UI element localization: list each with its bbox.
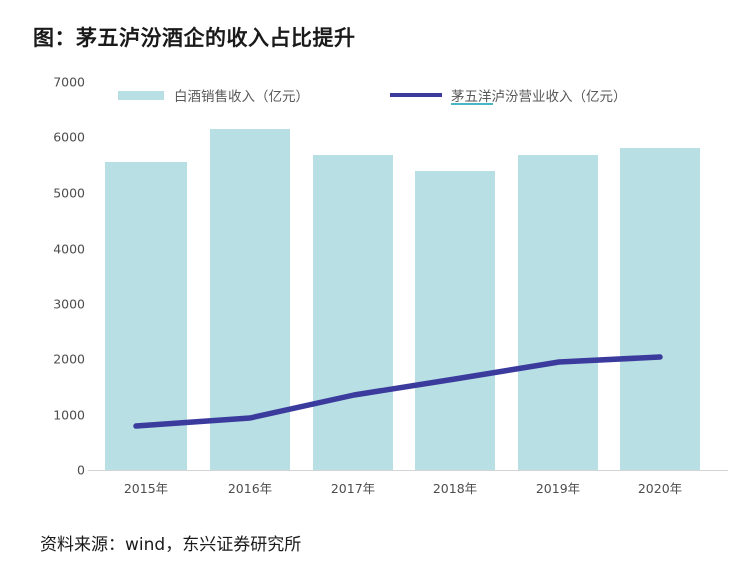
x-axis: 2015年 2016年 2017年 2018年 2019年 2020年 bbox=[0, 478, 746, 502]
x-tick-2020: 2020年 bbox=[638, 478, 682, 497]
x-tick-2018: 2018年 bbox=[433, 478, 477, 497]
x-tick-2019: 2019年 bbox=[536, 478, 580, 497]
x-axis-line bbox=[88, 470, 728, 471]
plot-area: 7000 6000 5000 4000 3000 2000 1000 0 201… bbox=[0, 0, 746, 510]
chart-figure: 图：茅五泸汾酒企的收入占比提升 白酒销售收入（亿元） 茅五洋泸汾营业收入（亿元）… bbox=[0, 0, 746, 571]
x-tick-2015: 2015年 bbox=[124, 478, 168, 497]
line-series bbox=[0, 0, 746, 510]
source-note: 资料来源：wind，东兴证券研究所 bbox=[40, 530, 301, 555]
line-series-path[interactable] bbox=[136, 357, 660, 426]
x-tick-2017: 2017年 bbox=[331, 478, 375, 497]
x-tick-2016: 2016年 bbox=[228, 478, 272, 497]
